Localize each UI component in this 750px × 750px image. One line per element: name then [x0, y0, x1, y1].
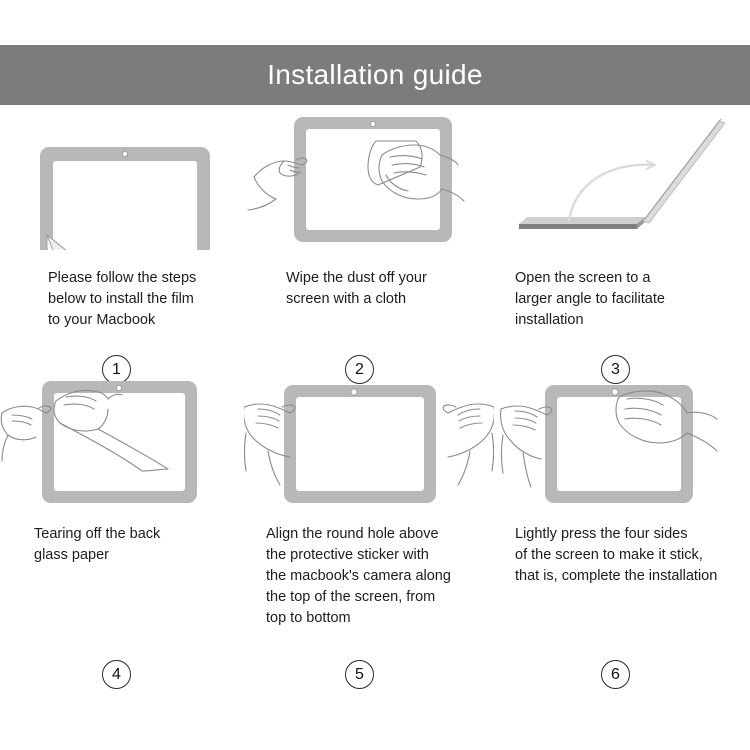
- step-6-caption: Lightly press the four sides of the scre…: [497, 508, 747, 587]
- page-title: Installation guide: [267, 59, 483, 91]
- step-6-illustration: [497, 363, 747, 508]
- step-2-caption: Wipe the dust off your screen with a clo…: [244, 250, 494, 310]
- step-1: Please follow the steps below to install…: [0, 105, 250, 331]
- step-5: Align the round hole above the protectiv…: [244, 363, 494, 629]
- step-4-caption: Tearing off the back glass paper: [0, 508, 250, 566]
- step-1-caption: Please follow the steps below to install…: [0, 250, 250, 331]
- step-4-illustration: [0, 363, 250, 508]
- page-header: Installation guide: [0, 45, 750, 105]
- step-2-illustration: [244, 105, 494, 250]
- step-6: Lightly press the four sides of the scre…: [497, 363, 747, 587]
- step-number-row-bottom: 4 5 6: [0, 660, 750, 700]
- step-5-caption: Align the round hole above the protectiv…: [244, 508, 494, 629]
- step-5-illustration: [244, 363, 494, 508]
- step-number-6: 6: [601, 660, 630, 689]
- step-number-5: 5: [345, 660, 374, 689]
- step-3: Open the screen to a larger angle to fac…: [497, 105, 747, 331]
- step-number-4: 4: [102, 660, 131, 689]
- step-3-illustration: [497, 105, 747, 250]
- step-3-caption: Open the screen to a larger angle to fac…: [497, 250, 747, 331]
- step-2: Wipe the dust off your screen with a clo…: [244, 105, 494, 310]
- installation-guide-page: Installation guide Please follow the ste…: [0, 0, 750, 750]
- step-1-illustration: [0, 105, 250, 250]
- step-4: Tearing off the back glass paper: [0, 363, 250, 566]
- steps-grid: Please follow the steps below to install…: [0, 105, 750, 750]
